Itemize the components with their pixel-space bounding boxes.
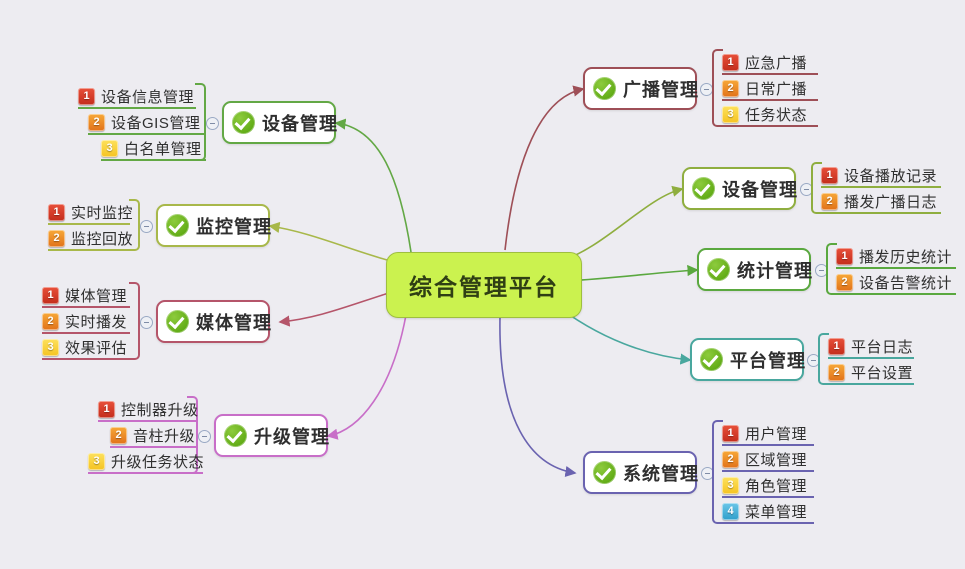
branch-label: 升级管理 xyxy=(254,423,330,449)
leafgroup-monitor-management: 1 实时监控 2 监控回放 xyxy=(48,199,140,251)
branch-upgrade-management[interactable]: 升级管理 xyxy=(214,414,328,457)
check-circle-icon xyxy=(224,424,247,447)
list-item[interactable]: 1 控制器升级 xyxy=(98,396,198,422)
badge-number: 1 xyxy=(821,167,838,184)
list-item[interactable]: 1 用户管理 xyxy=(722,420,814,446)
badge-number: 2 xyxy=(828,364,845,381)
list-item-label: 实时监控 xyxy=(71,202,133,223)
branch-label: 广播管理 xyxy=(623,76,699,102)
list-item-label: 设备播放记录 xyxy=(844,165,937,186)
list-item[interactable]: 2 播发广播日志 xyxy=(821,188,941,214)
badge-number: 1 xyxy=(42,287,59,304)
badge-number: 3 xyxy=(722,106,739,123)
list-item-label: 设备GIS管理 xyxy=(111,112,200,133)
check-circle-icon xyxy=(593,77,616,100)
badge-number: 1 xyxy=(98,401,115,418)
branch-monitor-management[interactable]: 监控管理 xyxy=(156,204,270,247)
list-item-label: 白名单管理 xyxy=(124,138,202,159)
check-circle-icon xyxy=(232,111,255,134)
list-item-label: 菜单管理 xyxy=(745,501,807,522)
branch-label: 设备管理 xyxy=(262,110,338,136)
list-item[interactable]: 2 日常广播 xyxy=(722,75,818,101)
badge-number: 2 xyxy=(110,427,127,444)
list-item-label: 音柱升级 xyxy=(133,425,195,446)
leaf-underline xyxy=(42,358,130,360)
central-node[interactable]: 综合管理平台 xyxy=(386,252,582,318)
leafgroup-media-management: 1 媒体管理 2 实时播发 3 效果评估 xyxy=(42,282,140,360)
list-item[interactable]: 2 设备GIS管理 xyxy=(88,109,206,135)
leafgroup-system-management: 1 用户管理 2 区域管理 3 角色管理 4 菜单管理 xyxy=(712,420,814,524)
list-item-label: 应急广播 xyxy=(745,52,807,73)
badge-number: 2 xyxy=(48,230,65,247)
leaf-underline xyxy=(722,522,814,524)
central-node-label: 综合管理平台 xyxy=(409,268,559,302)
list-item[interactable]: 3 升级任务状态 xyxy=(88,448,203,474)
list-item-label: 播发历史统计 xyxy=(859,246,952,267)
list-item[interactable]: 2 实时播发 xyxy=(42,308,130,334)
list-item[interactable]: 2 音柱升级 xyxy=(110,422,198,448)
connector-monitor-management xyxy=(270,226,394,262)
list-item-label: 角色管理 xyxy=(745,475,807,496)
branch-statistics-management[interactable]: 统计管理 xyxy=(697,248,811,291)
badge-number: 4 xyxy=(722,503,739,520)
list-item-label: 任务状态 xyxy=(745,104,807,125)
list-item[interactable]: 4 菜单管理 xyxy=(722,498,814,524)
list-item-label: 平台日志 xyxy=(851,336,913,357)
collapse-dot-icon-media[interactable] xyxy=(140,316,153,329)
connector-device-management-right xyxy=(558,189,682,262)
list-item[interactable]: 2 设备告警统计 xyxy=(836,269,956,295)
connector-media-management xyxy=(280,292,392,322)
leafgroup-statistics-management: 1 播发历史统计 2 设备告警统计 xyxy=(826,243,956,295)
badge-number: 3 xyxy=(101,140,118,157)
leafgroup-platform-management: 1 平台日志 2 平台设置 xyxy=(818,333,914,385)
list-item-label: 升级任务状态 xyxy=(111,451,204,472)
branch-label: 平台管理 xyxy=(730,347,806,373)
check-circle-icon xyxy=(707,258,730,281)
leaf-underline xyxy=(828,383,914,385)
badge-number: 2 xyxy=(836,274,853,291)
branch-label: 系统管理 xyxy=(623,460,699,486)
list-item[interactable]: 1 实时监控 xyxy=(48,199,130,225)
leaf-underline xyxy=(88,472,203,474)
branch-label: 统计管理 xyxy=(737,257,813,283)
list-item[interactable]: 1 应急广播 xyxy=(722,49,818,75)
list-item-label: 媒体管理 xyxy=(65,285,127,306)
list-item-label: 监控回放 xyxy=(71,228,133,249)
list-item[interactable]: 1 设备播放记录 xyxy=(821,162,941,188)
list-item-label: 设备告警统计 xyxy=(859,272,952,293)
list-item-label: 区域管理 xyxy=(745,449,807,470)
badge-number: 1 xyxy=(722,425,739,442)
check-circle-icon xyxy=(700,348,723,371)
list-item-label: 效果评估 xyxy=(65,337,127,358)
list-item[interactable]: 3 任务状态 xyxy=(722,101,818,127)
check-circle-icon xyxy=(166,310,189,333)
leafgroup-broadcast-management: 1 应急广播 2 日常广播 3 任务状态 xyxy=(712,49,818,127)
branch-system-management[interactable]: 系统管理 xyxy=(583,451,697,494)
list-item-label: 日常广播 xyxy=(745,78,807,99)
badge-number: 1 xyxy=(836,248,853,265)
leafgroup-device-management-left: 1 设备信息管理 2 设备GIS管理 3 白名单管理 xyxy=(78,83,206,161)
list-item[interactable]: 3 效果评估 xyxy=(42,334,130,360)
connector-upgrade-management xyxy=(328,315,406,436)
branch-label: 设备管理 xyxy=(722,176,798,202)
leaf-underline xyxy=(836,293,956,295)
branch-platform-management[interactable]: 平台管理 xyxy=(690,338,804,381)
check-circle-icon xyxy=(692,177,715,200)
list-item-label: 设备信息管理 xyxy=(101,86,194,107)
list-item-label: 播发广播日志 xyxy=(844,191,937,212)
leafgroup-upgrade-management: 1 控制器升级 2 音柱升级 3 升级任务状态 xyxy=(88,396,198,474)
list-item-label: 用户管理 xyxy=(745,423,807,444)
list-item-label: 平台设置 xyxy=(851,362,913,383)
leaf-underline xyxy=(101,159,206,161)
badge-number: 2 xyxy=(722,451,739,468)
badge-number: 2 xyxy=(722,80,739,97)
connector-statistics-management xyxy=(566,270,697,281)
branch-label: 媒体管理 xyxy=(196,309,272,335)
list-item[interactable]: 2 区域管理 xyxy=(722,446,814,472)
badge-number: 2 xyxy=(88,114,105,131)
branch-label: 监控管理 xyxy=(196,213,272,239)
badge-number: 1 xyxy=(722,54,739,71)
badge-number: 3 xyxy=(722,477,739,494)
branch-device-management-right[interactable]: 设备管理 xyxy=(682,167,796,210)
badge-number: 3 xyxy=(42,339,59,356)
connector-device-management-left xyxy=(336,123,411,252)
check-circle-icon xyxy=(166,214,189,237)
list-item[interactable]: 1 平台日志 xyxy=(828,333,914,359)
branch-media-management[interactable]: 媒体管理 xyxy=(156,300,270,343)
leaf-underline xyxy=(722,125,818,127)
mindmap-canvas: 综合管理平台 设备管理 1 设备信息管理 2 设备GIS管理 3 白名单管理 监… xyxy=(0,0,965,569)
list-item-label: 控制器升级 xyxy=(121,399,199,420)
badge-number: 2 xyxy=(42,313,59,330)
list-item[interactable]: 3 白名单管理 xyxy=(101,135,206,161)
collapse-dot-icon-device-left[interactable] xyxy=(206,117,219,130)
badge-number: 1 xyxy=(78,88,95,105)
connector-system-management xyxy=(500,317,575,473)
leaf-underline xyxy=(48,249,130,251)
list-item[interactable]: 2 平台设置 xyxy=(828,359,914,385)
badge-number: 1 xyxy=(48,204,65,221)
list-item[interactable]: 1 播发历史统计 xyxy=(836,243,956,269)
badge-number: 3 xyxy=(88,453,105,470)
list-item[interactable]: 1 设备信息管理 xyxy=(78,83,196,109)
collapse-dot-icon-upgrade[interactable] xyxy=(198,430,211,443)
branch-broadcast-management[interactable]: 广播管理 xyxy=(583,67,697,110)
branch-device-management-left[interactable]: 设备管理 xyxy=(222,101,336,144)
list-item-label: 实时播发 xyxy=(65,311,127,332)
badge-number: 1 xyxy=(828,338,845,355)
badge-number: 2 xyxy=(821,193,838,210)
leaf-underline xyxy=(821,212,941,214)
list-item[interactable]: 3 角色管理 xyxy=(722,472,814,498)
connector-broadcast-management xyxy=(505,89,583,250)
list-item[interactable]: 1 媒体管理 xyxy=(42,282,130,308)
check-circle-icon xyxy=(593,461,616,484)
leafgroup-device-management-right: 1 设备播放记录 2 播发广播日志 xyxy=(811,162,941,214)
list-item[interactable]: 2 监控回放 xyxy=(48,225,130,251)
collapse-dot-icon-monitor[interactable] xyxy=(140,220,153,233)
